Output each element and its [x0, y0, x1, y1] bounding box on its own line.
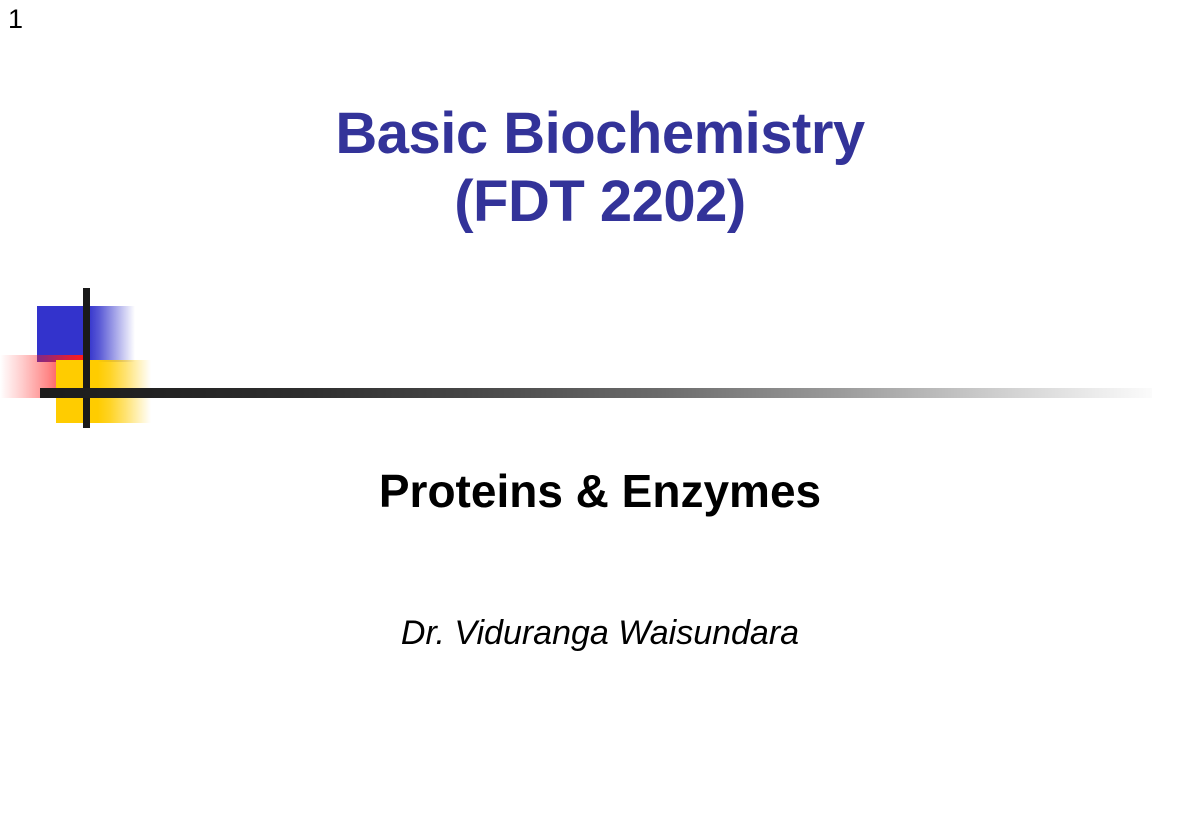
horizontal-rule-shape [40, 388, 1152, 398]
slide-canvas: 1 Basic Biochemistry (FDT 2202) Proteins… [0, 0, 1200, 831]
slide-number: 1 [8, 6, 23, 33]
title-line-2: (FDT 2202) [0, 168, 1200, 236]
subtitle-text: Proteins & Enzymes [0, 466, 1200, 517]
vertical-rule-shape [83, 288, 90, 428]
author-text: Dr. Viduranga Waisundara [0, 615, 1200, 652]
page-title: Basic Biochemistry (FDT 2202) [0, 100, 1200, 237]
title-line-1: Basic Biochemistry [0, 100, 1200, 168]
decorative-accent-graphic [0, 270, 1200, 440]
